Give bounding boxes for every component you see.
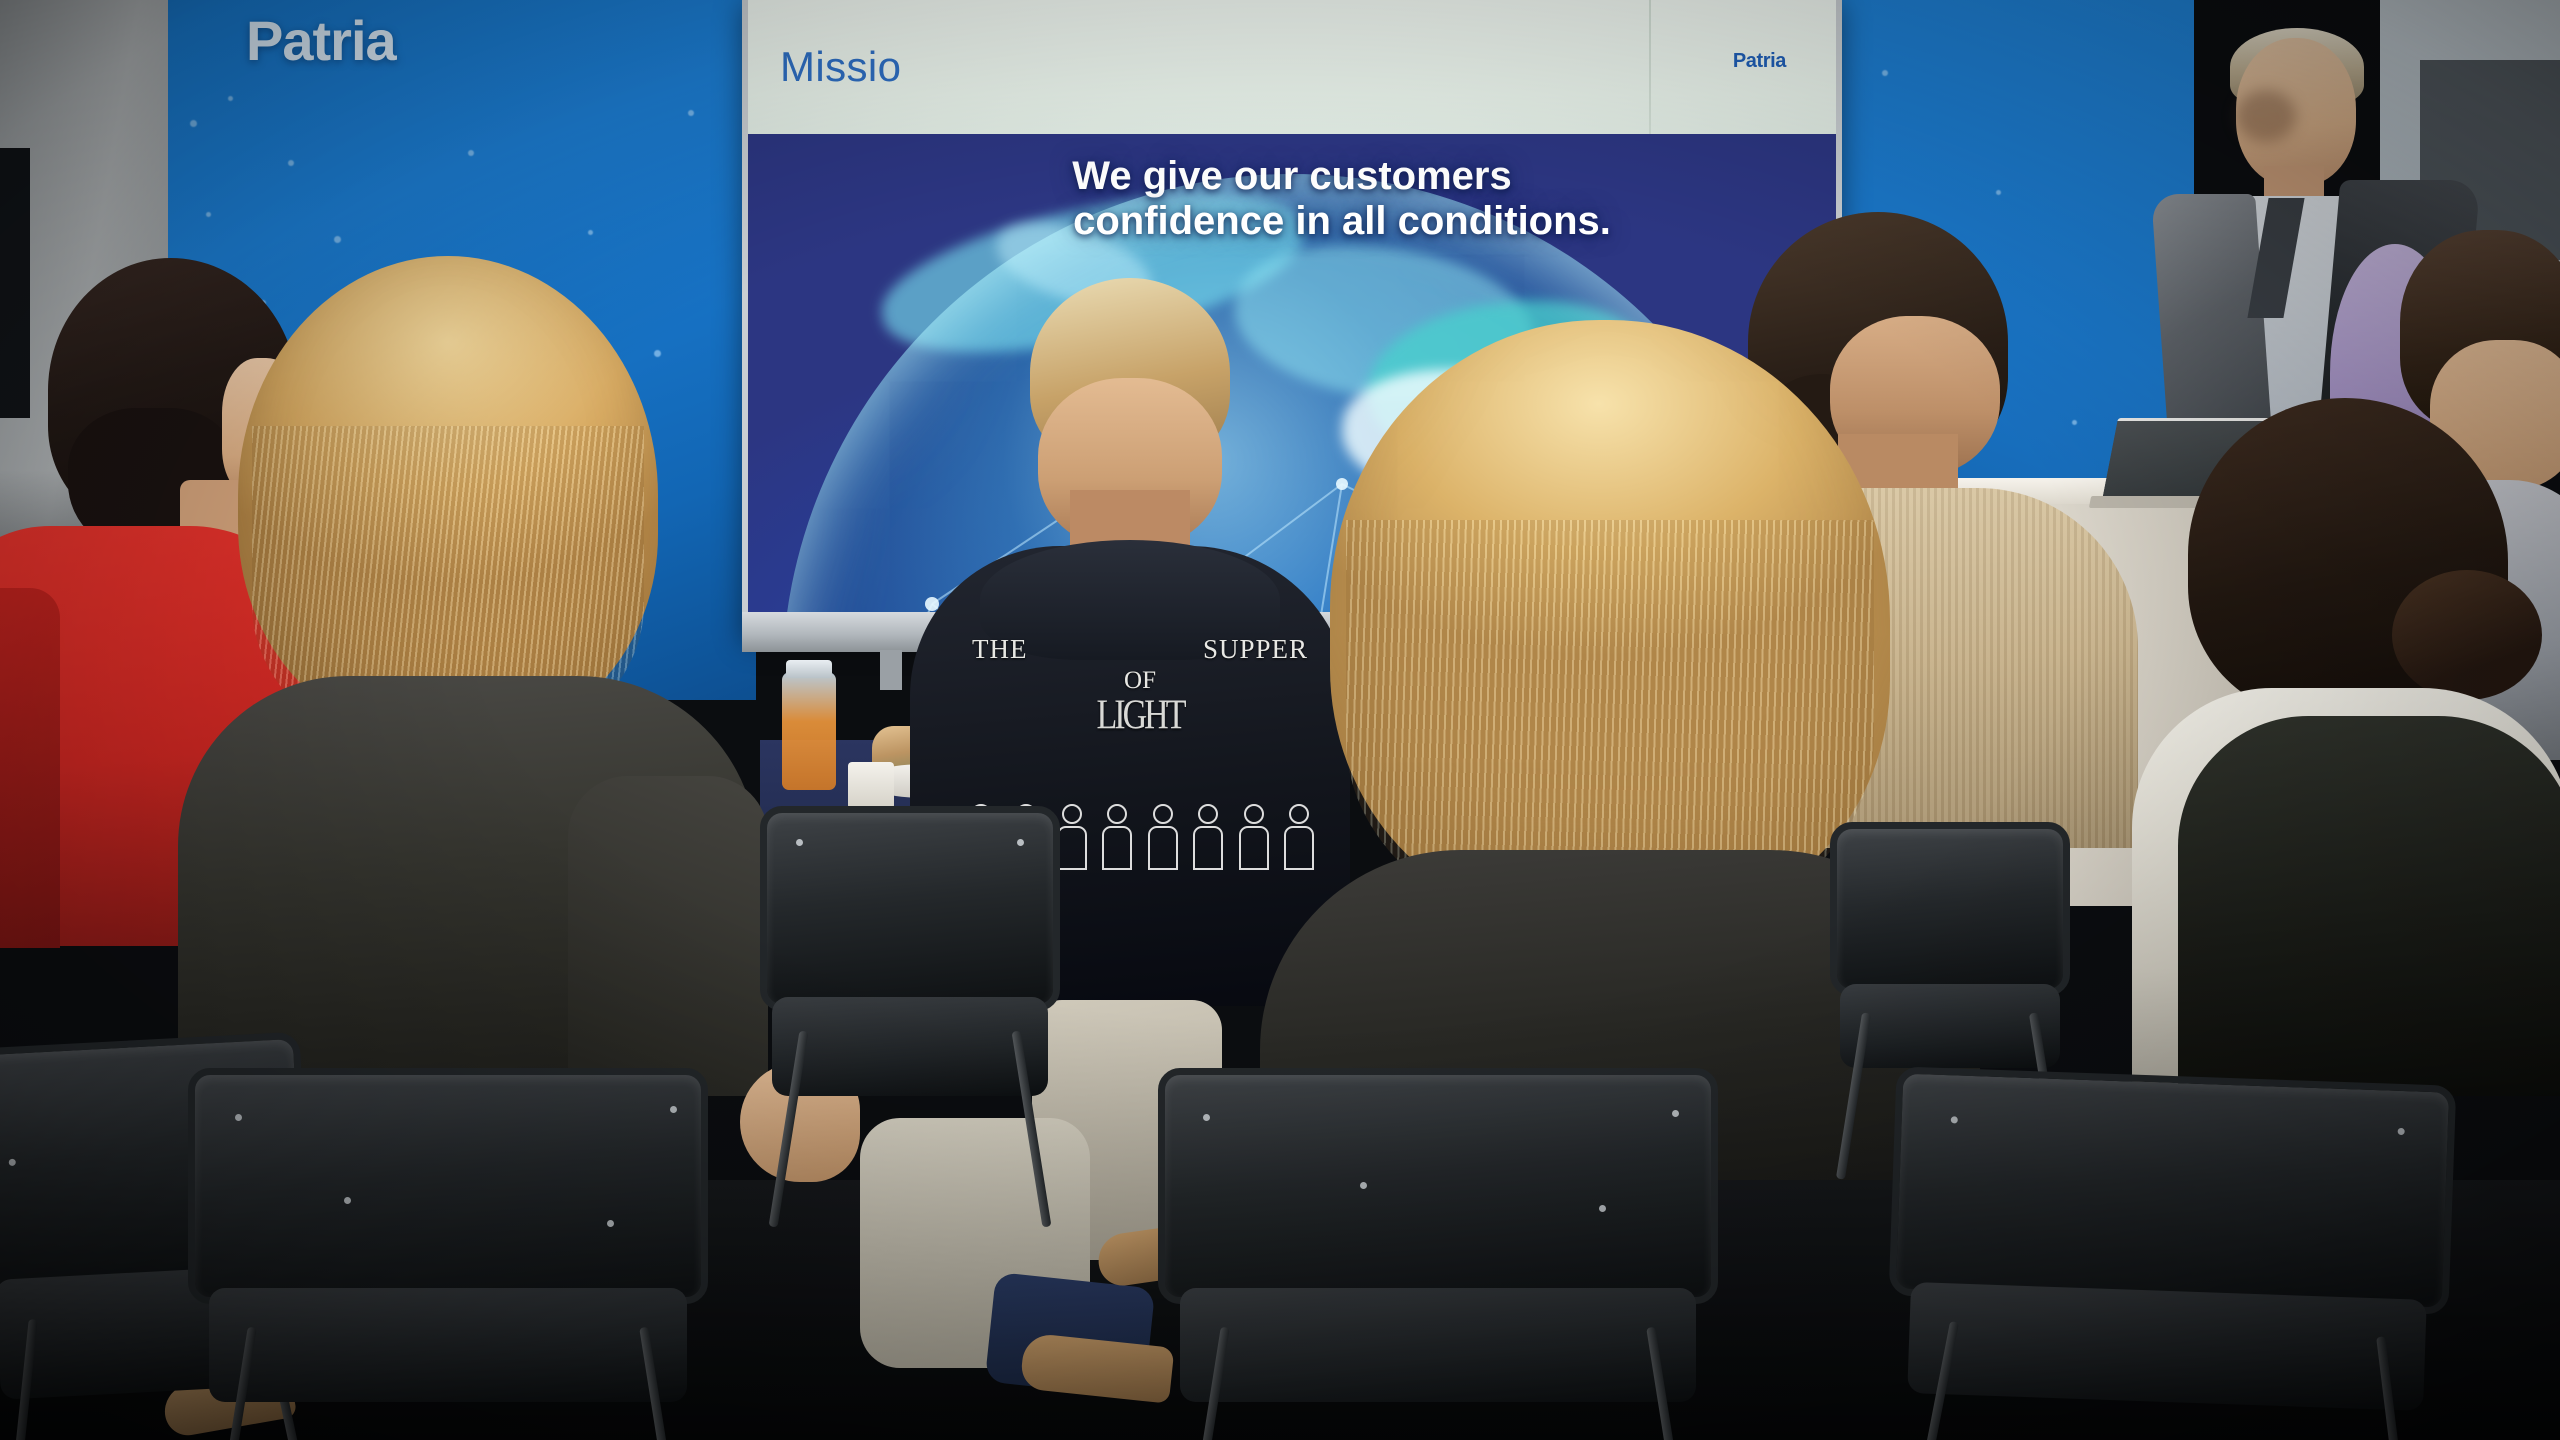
slide-title: Missio (780, 43, 901, 91)
folding-chair (188, 1068, 708, 1440)
chair-seat (772, 997, 1048, 1096)
chair-seat (1908, 1282, 2427, 1411)
juice-bottle (782, 672, 836, 790)
presentation-room-photo: Patria (0, 0, 2560, 1440)
audience-member-dark-bun-vest (2118, 398, 2560, 1098)
chair-seat (1840, 984, 2061, 1068)
screen-stand-leg (880, 650, 902, 690)
slide-quote-line2: confidence in all conditions. (888, 199, 1796, 244)
chair-seat (209, 1288, 687, 1402)
slide-quote: We give our customers confidence in all … (748, 154, 1836, 244)
chair-seat (1180, 1288, 1695, 1402)
chair-back (1889, 1066, 2457, 1315)
presenter-face-shadow (2236, 90, 2296, 142)
folding-chair (1884, 1066, 2457, 1440)
arm-dark-sleeve (568, 776, 768, 1096)
chair-back (188, 1068, 708, 1304)
slide-header-band: Missio Patria (748, 0, 1836, 134)
hoodie-word-bottom: LIGHT (950, 692, 1330, 740)
chair-back (760, 806, 1060, 1011)
hoodie-word-supper: SUPPER (1203, 634, 1308, 665)
chair-back (1830, 822, 2070, 996)
bottle-cap (786, 660, 832, 678)
hoodie-word-the: THE (972, 634, 1027, 665)
slide-brand-logo: Patria (1733, 50, 1786, 73)
slide-quote-line1: We give our customers (788, 154, 1796, 199)
folding-chair (1158, 1068, 1718, 1440)
dark-vest (2178, 716, 2560, 1096)
hair-bun (2392, 570, 2542, 700)
folding-chair (760, 806, 1060, 1136)
folding-chair (1830, 822, 2070, 1102)
backdrop-logo-text: Patria (246, 8, 396, 73)
chair-back (1158, 1068, 1718, 1304)
audience-member-blonde-midlength (238, 256, 758, 1076)
hoodie-word-of: OF (950, 667, 1330, 695)
arm-red-sweater (0, 588, 60, 948)
slide-header-divider (1649, 0, 1651, 134)
